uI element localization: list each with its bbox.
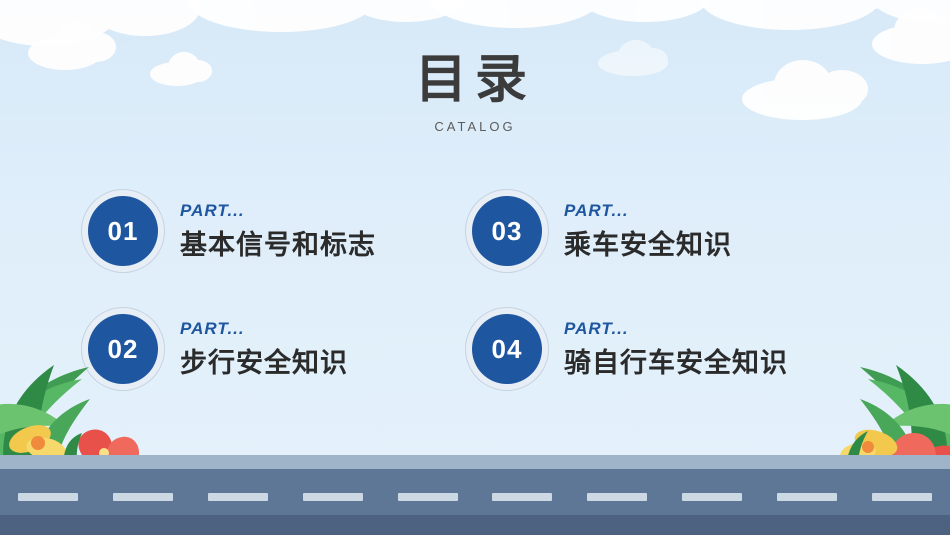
catalog-item-title: 骑自行车安全知识 xyxy=(564,341,788,380)
road-curb xyxy=(0,455,950,469)
catalog-item-03[interactable]: 03 PART... 乘车安全知识 xyxy=(472,196,732,266)
road-lane-markings xyxy=(0,493,950,501)
badge-number: 01 xyxy=(108,216,139,247)
catalog-item-part-label: PART... xyxy=(180,319,348,339)
cloud-icon xyxy=(186,0,376,32)
lane-dash xyxy=(303,493,363,501)
catalog-item-text: PART... 骑自行车安全知识 xyxy=(564,319,788,380)
badge-01: 01 xyxy=(88,196,158,266)
catalog-item-text: PART... 乘车安全知识 xyxy=(564,201,732,262)
cloud-icon xyxy=(430,0,600,28)
catalog-item-text: PART... 基本信号和标志 xyxy=(180,201,376,262)
catalog-item-part-label: PART... xyxy=(180,201,376,221)
lane-dash xyxy=(492,493,552,501)
cloud-icon xyxy=(700,0,880,30)
page-title: 目录 xyxy=(0,52,950,109)
badge-number: 02 xyxy=(108,334,139,365)
catalog-item-part-label: PART... xyxy=(564,201,732,221)
lane-dash xyxy=(208,493,268,501)
lane-dash xyxy=(18,493,78,501)
slide-catalog: 目录 CATALOG 01 PART... 基本信号和标志 02 PART...… xyxy=(0,0,950,535)
catalog-item-part-label: PART... xyxy=(564,319,788,339)
lane-dash xyxy=(777,493,837,501)
lane-dash xyxy=(398,493,458,501)
badge-03: 03 xyxy=(472,196,542,266)
badge-04: 04 xyxy=(472,314,542,384)
catalog-item-04[interactable]: 04 PART... 骑自行车安全知识 xyxy=(472,314,788,384)
page-subtitle: CATALOG xyxy=(0,119,950,134)
road-decoration xyxy=(0,455,950,535)
lane-dash xyxy=(113,493,173,501)
catalog-item-text: PART... 步行安全知识 xyxy=(180,319,348,380)
road-shadow-strip xyxy=(0,515,950,535)
catalog-item-title: 步行安全知识 xyxy=(180,341,348,380)
badge-number: 04 xyxy=(492,334,523,365)
catalog-item-title: 乘车安全知识 xyxy=(564,223,732,262)
badge-number: 03 xyxy=(492,216,523,247)
catalog-item-02[interactable]: 02 PART... 步行安全知识 xyxy=(88,314,348,384)
lane-dash xyxy=(682,493,742,501)
badge-02: 02 xyxy=(88,314,158,384)
catalog-item-title: 基本信号和标志 xyxy=(180,223,376,262)
lane-dash xyxy=(587,493,647,501)
catalog-item-01[interactable]: 01 PART... 基本信号和标志 xyxy=(88,196,376,266)
page-title-block: 目录 CATALOG xyxy=(0,52,950,134)
catalog-list: 01 PART... 基本信号和标志 02 PART... 步行安全知识 03 … xyxy=(0,196,950,416)
lane-dash xyxy=(872,493,932,501)
